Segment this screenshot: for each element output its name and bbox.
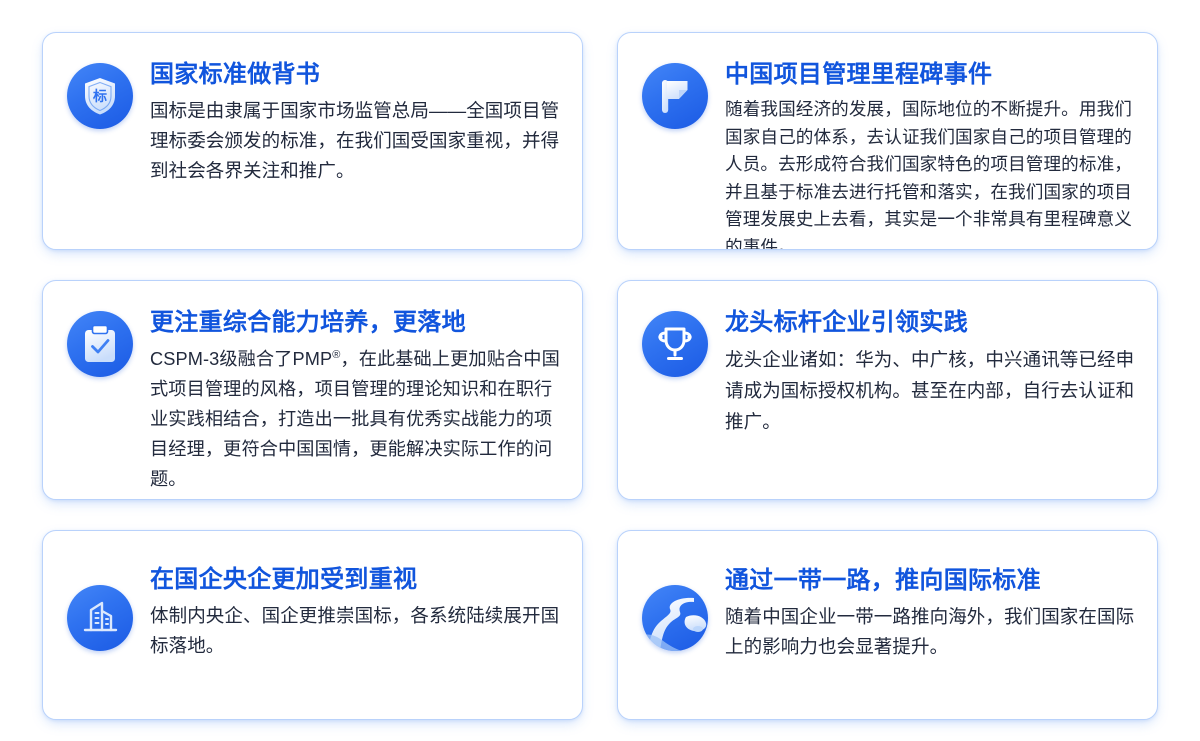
feature-card-leading-enterprises[interactable]: 龙头标杆企业引领实践 龙头企业诸如：华为、中广核，中兴通讯等已经申请成为国标授权… [617,280,1158,500]
feature-card-grid: 标 国家标准做背书 国标是由隶属于国家市场监管总局——全国项目管理标委会颁发的标… [0,0,1200,741]
card-body: 龙头标杆企业引领实践 龙头企业诸如：华为、中广核，中兴通讯等已经申请成为国标授权… [725,307,1135,437]
card-description: CSPM-3级融合了PMP®，在此基础上更加贴合中国式项目管理的风格，项目管理的… [150,344,560,494]
icon-container: 标 [67,63,133,129]
card-description-suffix: ，在此基础上更加贴合中国式项目管理的风格，项目管理的理论知识和在职行业实践相结合… [150,349,560,489]
clipboard-check-icon [67,311,133,377]
feature-card-belt-and-road[interactable]: 通过一带一路，推向国际标准 随着中国企业一带一路推向海外，我们国家在国际上的影响… [617,530,1158,720]
icon-container [67,585,133,651]
winding-road-icon [642,585,708,651]
card-description: 随着中国企业一带一路推向海外，我们国家在国际上的影响力也会显著提升。 [725,602,1135,662]
feature-card-comprehensive-ability[interactable]: 更注重综合能力培养，更落地 CSPM-3级融合了PMP®，在此基础上更加贴合中国… [42,280,583,500]
icon-container [642,585,708,651]
icon-container [642,63,708,129]
card-body: 更注重综合能力培养，更落地 CSPM-3级融合了PMP®，在此基础上更加贴合中国… [150,307,560,494]
card-body: 国家标准做背书 国标是由隶属于国家市场监管总局——全国项目管理标委会颁发的标准，… [150,59,560,186]
card-body: 中国项目管理里程碑事件 随着我国经济的发展，国际地位的不断提升。用我们国家自己的… [725,59,1135,250]
shield-badge-icon: 标 [67,63,133,129]
card-title: 在国企央企更加受到重视 [150,565,560,595]
feature-card-milestone-event[interactable]: 中国项目管理里程碑事件 随着我国经济的发展，国际地位的不断提升。用我们国家自己的… [617,32,1158,250]
card-description: 龙头企业诸如：华为、中广核，中兴通讯等已经申请成为国标授权机构。甚至在内部，自行… [725,344,1135,437]
card-description-prefix: CSPM-3级融合了PMP [150,349,332,369]
card-title: 中国项目管理里程碑事件 [725,60,1135,90]
card-title: 更注重综合能力培养，更落地 [150,308,560,338]
card-description: 体制内央企、国企更推崇国标，各系统陆续展开国标落地。 [150,601,560,661]
card-body: 在国企央企更加受到重视 体制内央企、国企更推崇国标，各系统陆续展开国标落地。 [150,564,560,661]
card-title: 通过一带一路，推向国际标准 [725,566,1135,596]
icon-container [67,311,133,377]
feature-card-state-owned-enterprises[interactable]: 在国企央企更加受到重视 体制内央企、国企更推崇国标，各系统陆续展开国标落地。 [42,530,583,720]
flag-icon [642,63,708,129]
icon-container [642,311,708,377]
card-description: 国标是由隶属于国家市场监管总局——全国项目管理标委会颁发的标准，在我们国受国家重… [150,96,560,186]
building-icon [67,585,133,651]
card-body: 通过一带一路，推向国际标准 随着中国企业一带一路推向海外，我们国家在国际上的影响… [725,565,1135,662]
card-title: 龙头标杆企业引领实践 [725,308,1135,338]
trophy-icon [642,311,708,377]
feature-card-national-standard[interactable]: 标 国家标准做背书 国标是由隶属于国家市场监管总局——全国项目管理标委会颁发的标… [42,32,583,250]
card-description: 随着我国经济的发展，国际地位的不断提升。用我们国家自己的体系，去认证我们国家自己… [725,96,1135,250]
card-title: 国家标准做背书 [150,60,560,90]
svg-text:标: 标 [92,88,107,105]
